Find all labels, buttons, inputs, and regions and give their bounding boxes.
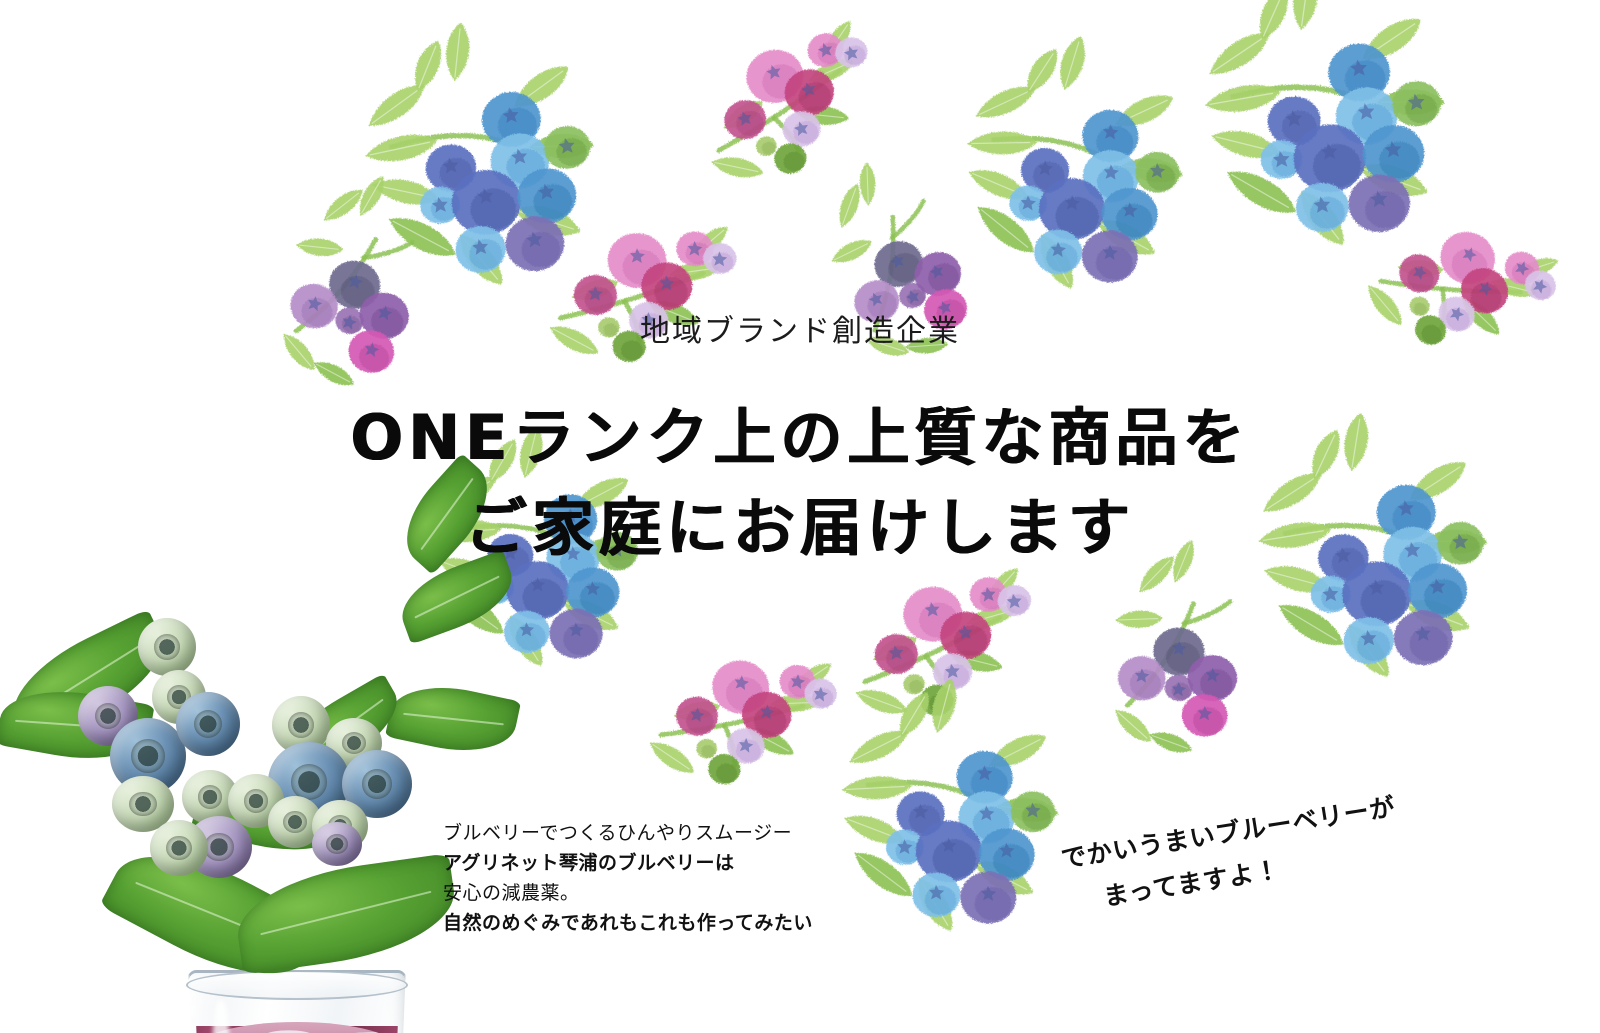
smoothie-caption-line-3: 安心の減農薬。	[443, 878, 813, 908]
tilted-caption-block: でかいうまいブルーベリーが まってますよ！	[1058, 785, 1406, 925]
photo-leaf-front-bottom-right	[231, 853, 462, 975]
photo-berry-pale-1	[138, 618, 196, 676]
headline-line-2: ご家庭にお届けします	[0, 477, 1600, 567]
smoothie-caption-line-1: ブルベリーでつくるひんやりスムージー	[443, 818, 813, 848]
headline-line-1: ONEランク上の上質な商品を	[0, 387, 1600, 477]
glass-rim	[186, 970, 408, 1000]
smoothie-glass	[186, 970, 408, 1033]
cluster-bottom-blue	[830, 706, 1092, 949]
photo-berry-purple-3	[312, 822, 362, 866]
cluster-center-blue	[950, 60, 1219, 311]
hero-banner: 地域ブランド創造企業 ONEランク上の上質な商品を ご家庭にお届けします ブルベ…	[0, 0, 1600, 1033]
smoothie-caption-line-2: アグリネット琴浦のブルベリーは	[443, 848, 813, 878]
smoothie-caption-block: ブルベリーでつくるひんやりスムージー アグリネット琴浦のブルベリーは 安心の減農…	[443, 818, 813, 938]
photo-leaf-back-right3	[385, 676, 521, 763]
cluster-low-violet-sprig	[1099, 554, 1358, 796]
photo-berry-pale-10	[150, 820, 208, 876]
smoothie-caption-line-4: 自然のめぐみであれもこれも作ってみたい	[443, 908, 813, 938]
eyebrow-tagline: 地域ブランド創造企業	[0, 306, 1600, 350]
photo-berry-blue-2	[176, 692, 240, 756]
